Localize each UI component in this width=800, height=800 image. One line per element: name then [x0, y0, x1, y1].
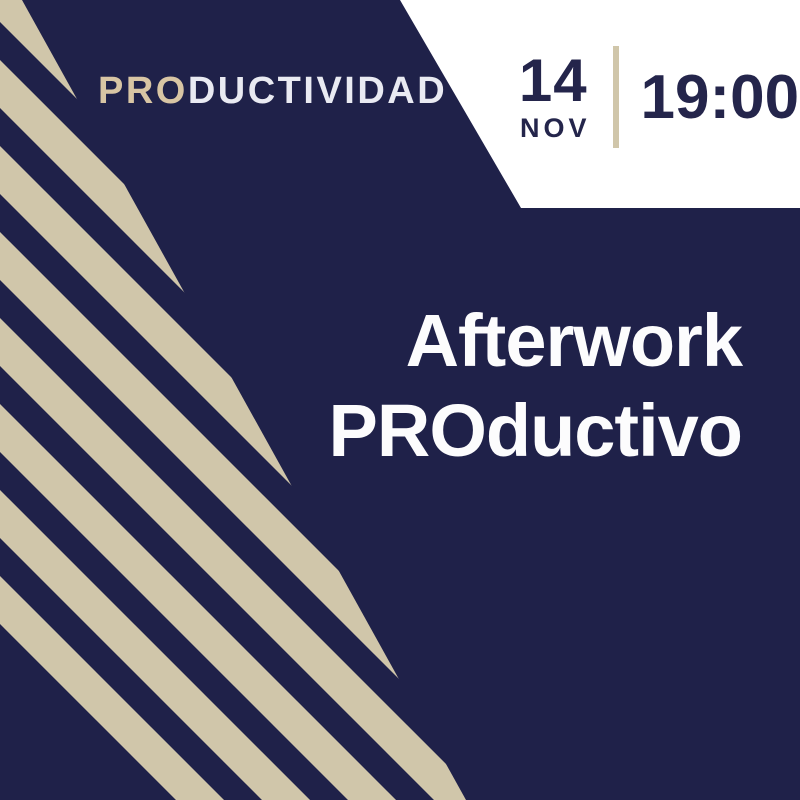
- kicker-plain: DUCTIVIDAD: [188, 70, 447, 112]
- event-poster: PRODUCTIVIDAD 14 NOV 19:00 Afterwork PRO…: [0, 0, 800, 800]
- event-time: 19:00: [619, 42, 800, 154]
- title-line-2: PROductivo: [0, 386, 742, 476]
- date-day-month: 14 NOV: [516, 42, 613, 154]
- date-month: NOV: [520, 113, 591, 144]
- title-line-1: Afterwork: [0, 296, 742, 386]
- kicker-accent: PRO: [98, 70, 188, 112]
- page-title: Afterwork PROductivo: [0, 296, 742, 477]
- kicker-text: PRODUCTIVIDAD: [98, 70, 447, 113]
- date-time-block: 14 NOV 19:00: [516, 42, 799, 154]
- date-day: 14: [519, 52, 588, 109]
